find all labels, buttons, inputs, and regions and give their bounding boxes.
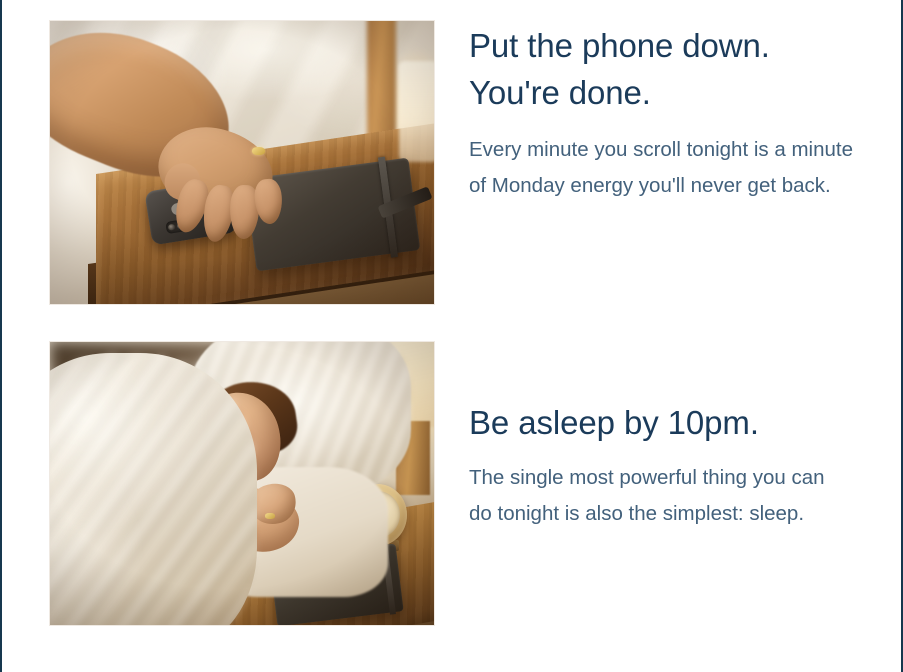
image-hand-reaching-for-phone-on-nightstand <box>49 20 435 305</box>
duvet-shape <box>49 353 257 626</box>
body-text-phone: Every minute you scroll tonight is a min… <box>469 132 853 203</box>
copy-column-sleep: Be asleep by 10pm. The single most power… <box>469 341 869 532</box>
heading-sleep: Be asleep by 10pm. <box>469 399 869 446</box>
photo-scene-2 <box>50 342 434 625</box>
candle-shape <box>399 61 435 163</box>
content-block-phone: Put the phone down. You're done. Every m… <box>49 20 869 305</box>
image-woman-sleeping-in-bed <box>49 341 435 626</box>
heading-phone: Put the phone down. You're done. <box>469 22 869 116</box>
content-block-sleep: Be asleep by 10pm. The single most power… <box>49 341 869 626</box>
body-text-sleep: The single most powerful thing you can d… <box>469 460 853 531</box>
copy-column-phone: Put the phone down. You're done. Every m… <box>469 20 869 204</box>
page-root: Put the phone down. You're done. Every m… <box>0 0 903 672</box>
photo-scene-1 <box>50 21 434 304</box>
